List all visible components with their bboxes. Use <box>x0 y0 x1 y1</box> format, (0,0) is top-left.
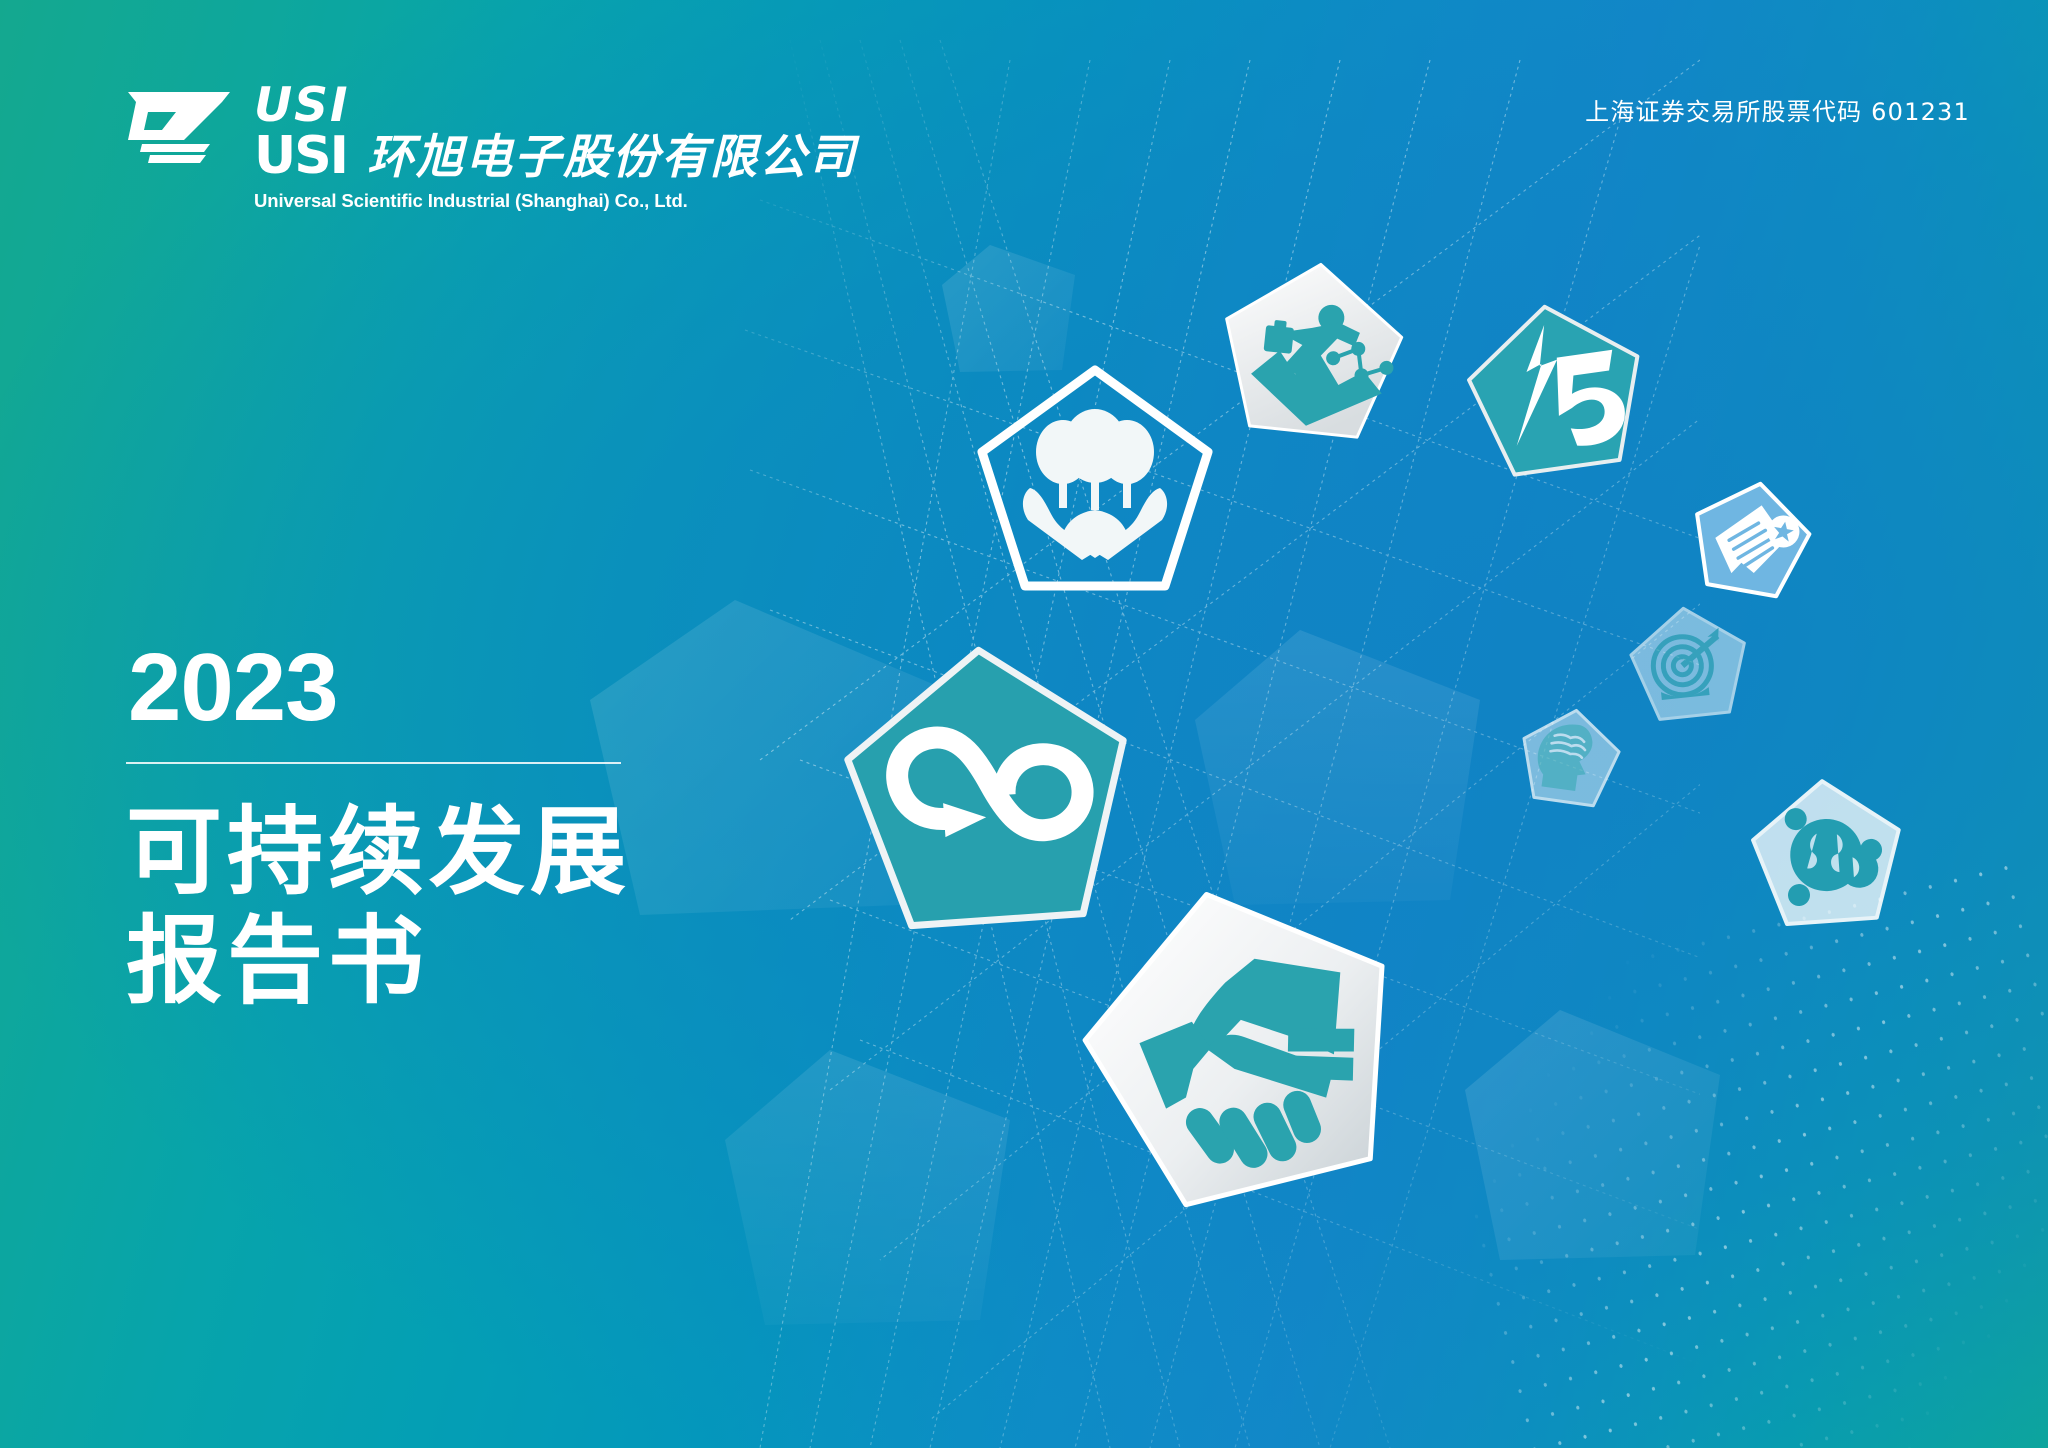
cover-header: USI USI 环旭电子股份有限公司 Universal Scientific … <box>0 0 2048 190</box>
logo-abbr: USI <box>254 130 347 183</box>
badge-anniversary-15 <box>1454 288 1659 488</box>
pentagon-shape <box>1460 295 1651 479</box>
stock-code-label: 上海证券交易所股票代码 601231 <box>1585 92 1970 127</box>
badge-certificate-award <box>1681 468 1822 605</box>
logo-brand-en: Universal Scientific Industrial (Shangha… <box>254 190 857 212</box>
badge-brain-head <box>1512 699 1629 813</box>
badge-growth-climb-chart <box>1209 249 1415 450</box>
report-year: 2023 <box>128 640 746 736</box>
report-cover-page: USI USI 环旭电子股份有限公司 Universal Scientific … <box>0 0 2048 1448</box>
usi-logo-mark <box>126 86 238 164</box>
logo-brand-cn: USI <box>254 82 857 130</box>
title-divider <box>126 762 621 764</box>
usi-logo: USI USI 环旭电子股份有限公司 Universal Scientific … <box>126 82 857 212</box>
badge-global-community <box>1743 770 1911 933</box>
dotted-corner-pattern <box>1409 851 2048 1448</box>
badge-circular-economy <box>828 630 1148 942</box>
badge-environment-tree-hands <box>970 360 1220 600</box>
logo-brand-cn-text: 环旭电子股份有限公司 <box>367 134 857 182</box>
report-title: 可持续发展 报告书 <box>126 798 746 1017</box>
badge-target-arrow <box>1622 597 1756 727</box>
hands-holding-trees-icon <box>1023 409 1167 560</box>
cover-title-block: 2023 可持续发展 报告书 <box>126 640 746 1017</box>
